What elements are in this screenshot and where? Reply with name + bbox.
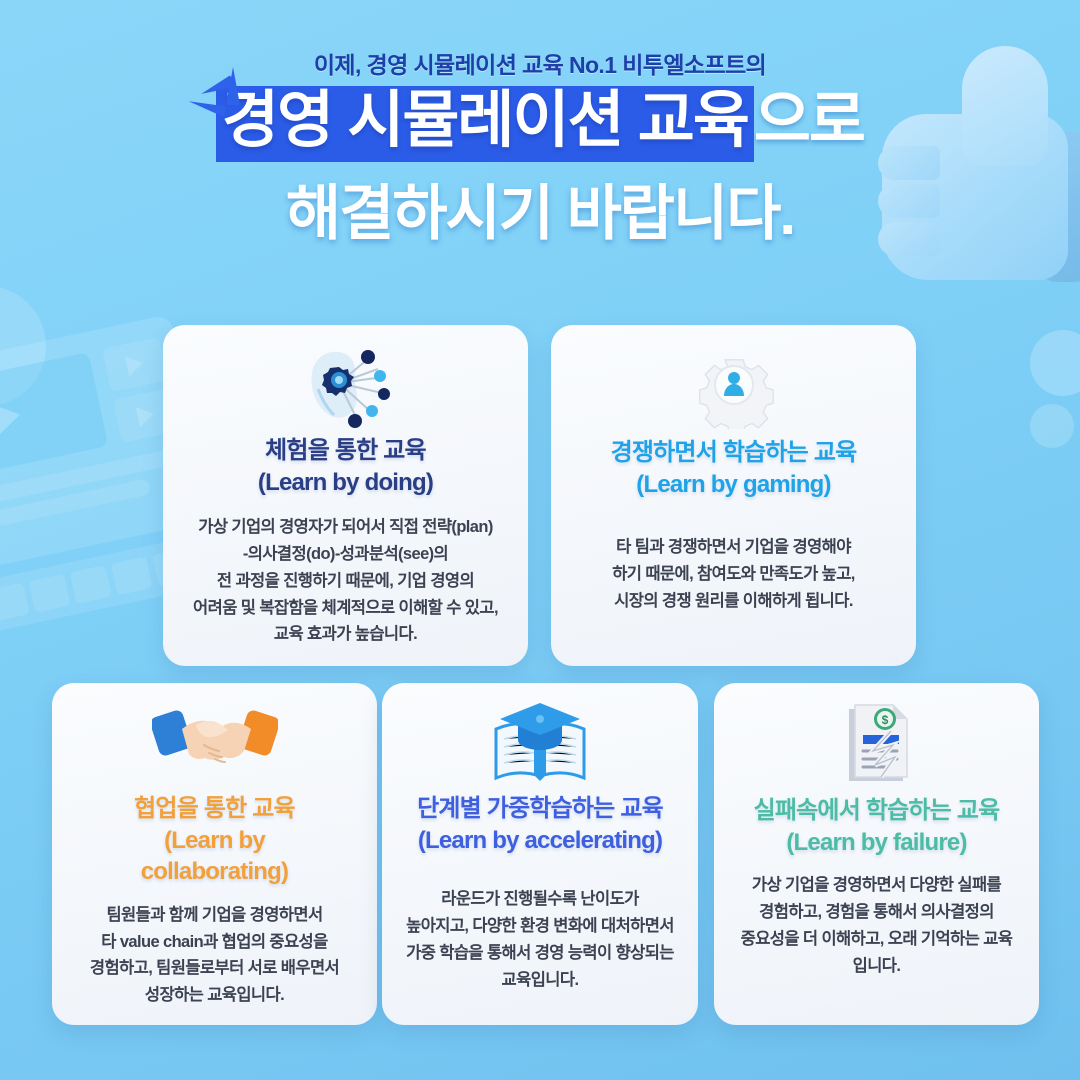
lightbulb-decoration xyxy=(0,275,57,417)
card-body: 팀원들과 함께 기업을 경영하면서 타 value chain과 협업의 중요성… xyxy=(74,902,355,1009)
headline-highlight: 경영 시뮬레이션 교육 xyxy=(216,86,754,162)
circle-decoration xyxy=(1030,404,1074,448)
card-title: 체험을 통한 교육 (Learn by doing) xyxy=(185,435,506,498)
headline-block: 이제, 경영 시뮬레이션 교육 No.1 비투엘소프트의 경영 시뮬레이션 교육… xyxy=(0,52,1080,244)
card-body: 가상 기업을 경영하면서 다양한 실패를 경험하고, 경험을 통해서 의사결정의… xyxy=(736,872,1017,979)
torn-document-icon: $ xyxy=(736,701,1017,787)
circle-decoration xyxy=(1030,330,1080,396)
headline-eyebrow: 이제, 경영 시뮬레이션 교육 No.1 비투엘소프트의 xyxy=(0,52,1080,80)
handshake-icon xyxy=(74,701,355,787)
card-title: 단계별 가중학습하는 교육 (Learn by accelerating) xyxy=(404,793,676,856)
sparkle-icon xyxy=(186,57,256,117)
headline-suffix: 으로 xyxy=(754,90,864,152)
card-body: 가상 기업의 경영자가 되어서 직접 전략(plan) -의사결정(do)-성과… xyxy=(185,514,506,648)
infographic-stage: 이제, 경영 시뮬레이션 교육 No.1 비투엘소프트의 경영 시뮬레이션 교육… xyxy=(0,0,1080,1080)
headline-main-line: 경영 시뮬레이션 교육으로 xyxy=(0,86,1080,162)
feature-card-learn-by-collaborating[interactable]: 협업을 통한 교육 (Learn by collaborating) 팀원들과 … xyxy=(52,683,377,1025)
feature-card-learn-by-accelerating[interactable]: 단계별 가중학습하는 교육 (Learn by accelerating) 라운… xyxy=(382,683,698,1025)
card-title: 실패속에서 학습하는 교육 (Learn by failure) xyxy=(736,795,1017,858)
feature-card-learn-by-gaming[interactable]: 경쟁하면서 학습하는 교육 (Learn by gaming) 타 팀과 경쟁하… xyxy=(551,325,916,666)
card-title: 협업을 통한 교육 (Learn by collaborating) xyxy=(74,793,355,888)
svg-text:$: $ xyxy=(881,713,888,727)
card-body: 타 팀과 경쟁하면서 기업을 경영해야 하기 때문에, 참여도와 만족도가 높고… xyxy=(573,534,894,614)
brain-network-icon xyxy=(185,343,506,429)
feature-card-learn-by-doing[interactable]: 체험을 통한 교육 (Learn by doing) 가상 기업의 경영자가 되… xyxy=(163,325,528,666)
headline-closing-line: 해결하시기 바랍니다. xyxy=(0,184,1080,244)
card-title: 경쟁하면서 학습하는 교육 (Learn by gaming) xyxy=(573,437,894,500)
feature-card-learn-by-failure[interactable]: $ 실패속에서 학습하는 교육 (Learn by failure) 가상 기업… xyxy=(714,683,1039,1025)
graduation-book-icon xyxy=(404,701,676,787)
gear-person-icon xyxy=(573,343,894,429)
card-body: 라운드가 진행될수록 난이도가 높아지고, 다양한 환경 변화에 대처하면서 가… xyxy=(404,886,676,993)
